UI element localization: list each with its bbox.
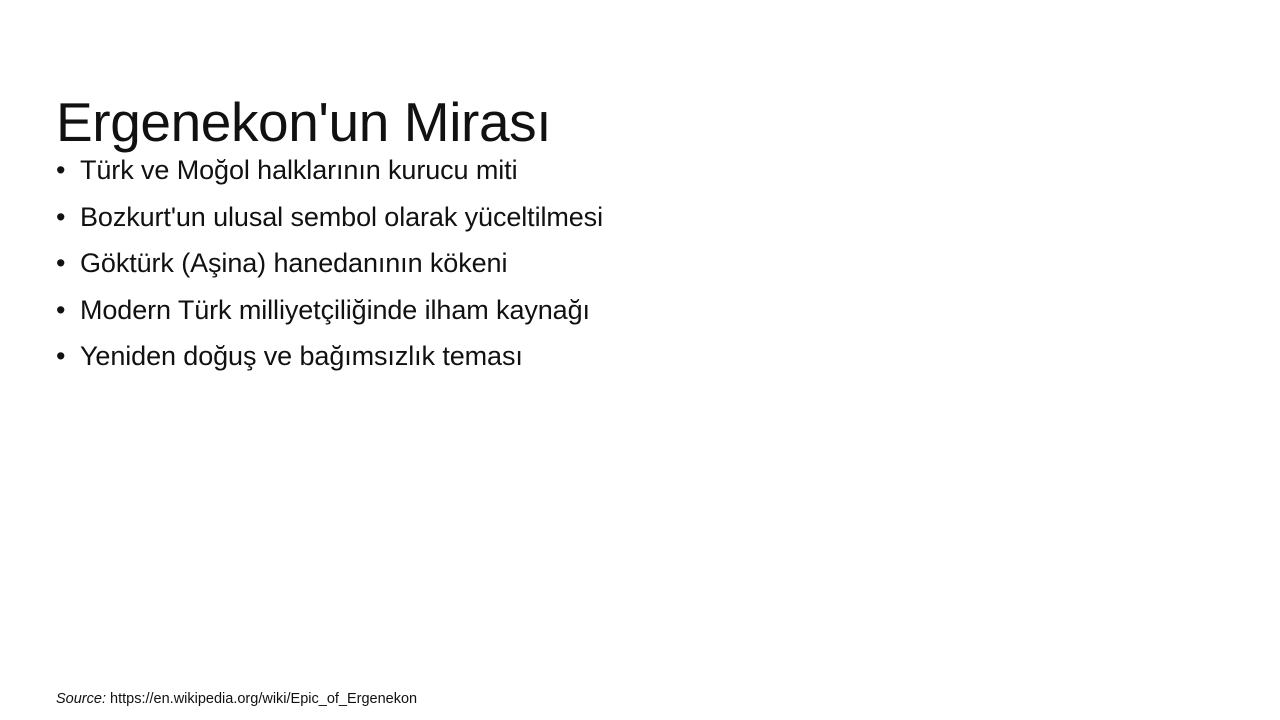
list-item: • Göktürk (Aşina) hanedanının kökeni <box>56 240 1156 287</box>
list-item-label: Yeniden doğuş ve bağımsızlık teması <box>80 333 523 380</box>
bullet-point-icon: • <box>56 333 80 380</box>
presentation-slide: Ergenekon'un Mirası • Türk ve Moğol halk… <box>0 0 1280 720</box>
list-item: • Yeniden doğuş ve bağımsızlık teması <box>56 333 1156 380</box>
list-item-label: Göktürk (Aşina) hanedanının kökeni <box>80 240 507 287</box>
source-url: https://en.wikipedia.org/wiki/Epic_of_Er… <box>110 691 417 707</box>
bullet-point-icon: • <box>56 147 80 194</box>
source-citation: Source: https://en.wikipedia.org/wiki/Ep… <box>56 691 417 708</box>
bullet-point-icon: • <box>56 194 80 241</box>
list-item-label: Bozkurt'un ulusal sembol olarak yüceltil… <box>80 194 603 241</box>
list-item: • Türk ve Moğol halklarının kurucu miti <box>56 147 1156 194</box>
list-item-label: Türk ve Moğol halklarının kurucu miti <box>80 147 517 194</box>
source-label: Source: <box>56 691 106 707</box>
bullet-point-icon: • <box>56 240 80 287</box>
list-item-label: Modern Türk milliyetçiliğinde ilham kayn… <box>80 287 590 334</box>
page-title: Ergenekon'un Mirası <box>56 93 551 151</box>
bullet-list: • Türk ve Moğol halklarının kurucu miti … <box>56 147 1156 380</box>
list-item: • Bozkurt'un ulusal sembol olarak yücelt… <box>56 194 1156 241</box>
list-item: • Modern Türk milliyetçiliğinde ilham ka… <box>56 287 1156 334</box>
bullet-point-icon: • <box>56 287 80 334</box>
